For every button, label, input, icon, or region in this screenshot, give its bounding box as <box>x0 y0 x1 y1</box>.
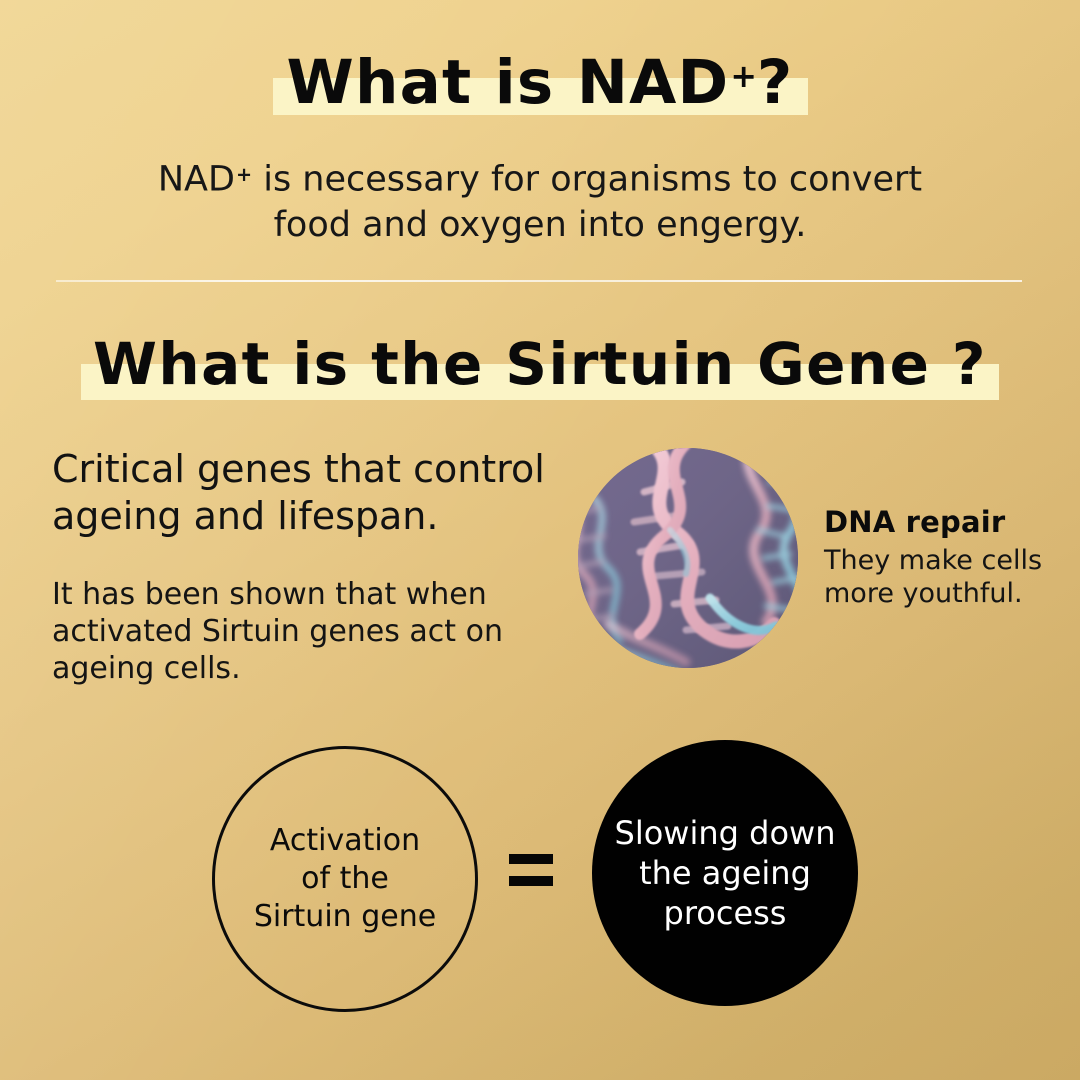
equals-bar-top <box>509 854 553 864</box>
activation-circle: Activation of the Sirtuin gene <box>212 746 478 1012</box>
result-circle: Slowing down the ageing process <box>592 740 858 1006</box>
title-text: What is NAD+? <box>287 47 794 118</box>
dna-repair-line-1: They make cells <box>824 544 1062 577</box>
sub-line-3: ageing cells. <box>52 650 522 687</box>
section-two-heading: What is the Sirtuin Gene ? <box>81 328 999 400</box>
dna-repair-line-2: more youthful. <box>824 577 1062 610</box>
dna-repair-caption: DNA repair They make cells more youthful… <box>824 504 1062 610</box>
section-divider <box>56 280 1022 282</box>
title-prefix: What is NAD <box>287 47 730 118</box>
section-two-lead-paragraph: Critical genes that control ageing and l… <box>52 446 592 540</box>
result-line-2: the ageing <box>615 853 836 893</box>
equals-sign-icon <box>509 852 553 894</box>
subtitle-prefix: NAD <box>158 160 235 200</box>
subtitle-superscript-plus: + <box>236 163 252 186</box>
section-two-heading-container: What is the Sirtuin Gene ? <box>0 328 1080 412</box>
dna-repair-body: They make cells more youthful. <box>824 544 1062 610</box>
title-suffix: ? <box>757 47 794 118</box>
page-title: What is NAD+? <box>273 40 808 120</box>
section-one-title-container: What is NAD+? <box>0 40 1080 124</box>
dna-helix-illustration <box>578 448 798 668</box>
title-superscript-plus: + <box>730 59 757 95</box>
section-two-sub-paragraph: It has been shown that when activated Si… <box>52 576 522 687</box>
equals-bar-bottom <box>509 876 553 886</box>
activation-line-1: Activation <box>254 822 436 860</box>
section-one-subtitle: NAD+ is necessary for organisms to conve… <box>120 152 960 248</box>
dna-repair-title: DNA repair <box>824 504 1062 540</box>
activation-circle-text: Activation of the Sirtuin gene <box>254 822 436 936</box>
infographic-poster: What is NAD+? NAD+ is necessary for orga… <box>0 0 1080 1080</box>
activation-line-2: of the <box>254 860 436 898</box>
result-line-3: process <box>615 893 836 933</box>
subtitle-line-1: is necessary for organisms to convert <box>252 160 922 200</box>
activation-line-3: Sirtuin gene <box>254 898 436 936</box>
lead-line-1: Critical genes that control <box>52 446 592 493</box>
lead-line-2: ageing and lifespan. <box>52 493 592 540</box>
sub-line-2: activated Sirtuin genes act on <box>52 613 522 650</box>
dna-helix-image <box>578 448 798 668</box>
result-circle-text: Slowing down the ageing process <box>615 813 836 933</box>
heading-text: What is the Sirtuin Gene ? <box>93 330 987 398</box>
result-line-1: Slowing down <box>615 813 836 853</box>
subtitle-line-2: food and oxygen into engergy. <box>120 203 960 248</box>
sub-line-1: It has been shown that when <box>52 576 522 613</box>
